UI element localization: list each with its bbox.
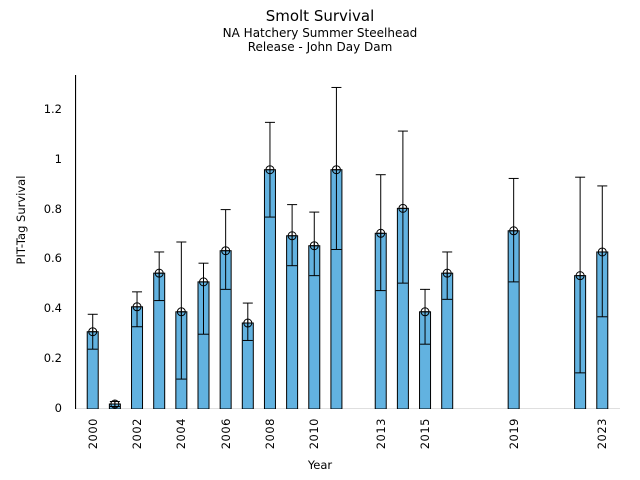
y-tick-label: 0.8 (10, 202, 62, 216)
bar-group (87, 314, 98, 409)
x-tick-label: 2004 (174, 418, 188, 449)
x-tick-label: 2015 (418, 418, 432, 449)
bar-group (442, 252, 453, 409)
x-tick-label: 2006 (219, 418, 233, 449)
chart-figure: Smolt Survival NA Hatchery Summer Steelh… (0, 0, 640, 480)
bar-group (420, 289, 431, 409)
plot-area (75, 75, 620, 409)
x-tick-label: 2019 (507, 418, 521, 449)
y-tick-label: 0.2 (10, 351, 62, 365)
y-tick-label: 0 (10, 401, 62, 415)
bar-group (198, 263, 209, 409)
x-axis-label: Year (0, 458, 640, 472)
x-tick-label: 2023 (595, 418, 609, 449)
bar-group (264, 122, 275, 409)
chart-title-block: Smolt Survival NA Hatchery Summer Steelh… (0, 8, 640, 54)
bar-group (132, 292, 143, 409)
plot-svg (75, 75, 620, 409)
y-axis-label: PIT-Tag Survival (14, 110, 28, 330)
bar-group (597, 186, 608, 409)
chart-subtitle-line1: NA Hatchery Summer Steelhead (0, 26, 640, 40)
y-tick-label: 0.6 (10, 251, 62, 265)
bar-group (331, 87, 342, 409)
x-tick-label: 2010 (307, 418, 321, 449)
bar-group (575, 177, 586, 409)
bar-group (309, 212, 320, 409)
bar-group (242, 303, 253, 409)
bar-group (508, 178, 519, 409)
bar-group (176, 242, 187, 409)
y-tick-label: 1.2 (10, 102, 62, 116)
bar-group (154, 252, 165, 409)
bar-group (287, 205, 298, 409)
bar-group (397, 131, 408, 409)
x-tick-label: 2002 (130, 418, 144, 449)
bar-group (220, 210, 231, 409)
x-tick-label: 2008 (263, 418, 277, 449)
y-tick-label: 0.4 (10, 301, 62, 315)
y-tick-label: 1 (10, 152, 62, 166)
bar-group (109, 400, 120, 409)
x-tick-label: 2013 (374, 418, 388, 449)
bar-group (375, 175, 386, 409)
page-title: Smolt Survival (0, 8, 640, 26)
x-tick-label: 2000 (86, 418, 100, 449)
chart-subtitle-line2: Release - John Day Dam (0, 40, 640, 54)
